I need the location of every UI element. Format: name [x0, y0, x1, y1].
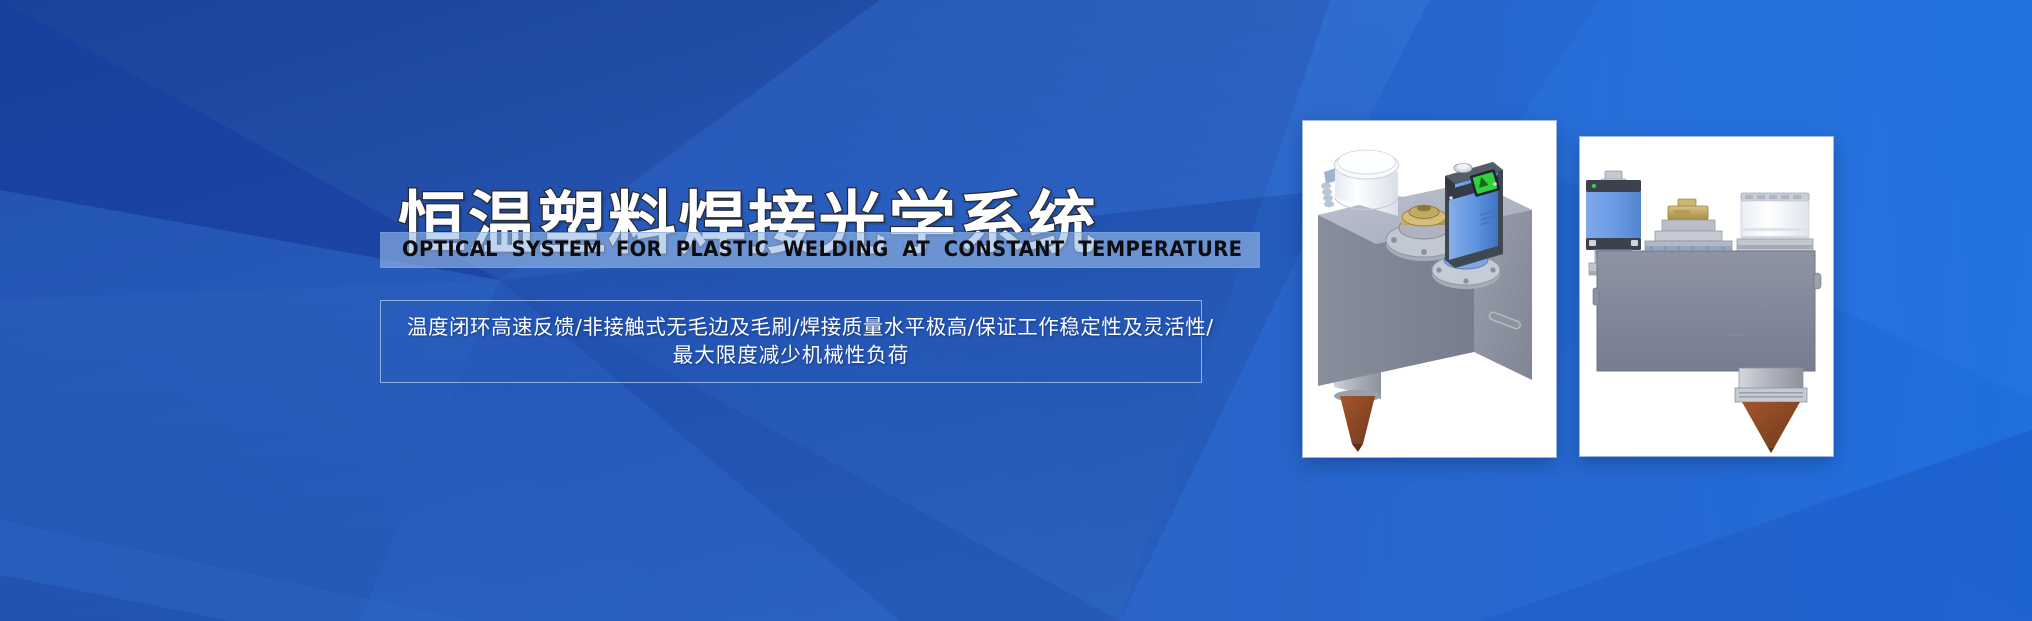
product-image-isometric[interactable]: laser-welding-head-isometric-view	[1303, 121, 1556, 457]
title-wrapper: 恒温塑料焊接光学系统 OPTICAL SYSTEM FOR PLASTIC WE…	[380, 190, 1260, 282]
product-image-front-canvas: laser-welding-head-front-view	[1583, 140, 1830, 453]
page-title-english: OPTICAL SYSTEM FOR PLASTIC WELDING AT CO…	[402, 234, 1242, 264]
promotional-banner: 恒温塑料焊接光学系统 OPTICAL SYSTEM FOR PLASTIC WE…	[0, 0, 2032, 621]
product-image-isometric-label: laser-welding-head-isometric-view	[1306, 454, 1307, 455]
white-cylinder	[1737, 193, 1813, 251]
product-image-isometric-canvas: laser-welding-head-isometric-view	[1306, 124, 1553, 454]
product-image-front-label: laser-welding-head-front-view	[1583, 453, 1584, 454]
enclosure	[1593, 251, 1821, 371]
headline-block: 恒温塑料焊接光学系统 OPTICAL SYSTEM FOR PLASTIC WE…	[380, 190, 1260, 390]
subtitle-line-2: 最大限度减少机械性负荷	[407, 341, 1175, 369]
subtitle-box: 温度闭环高速反馈/非接触式无毛边及毛刷/焊接质量水平极高/保证工作稳定性及灵活性…	[380, 300, 1202, 383]
product-image-front[interactable]: laser-welding-head-front-view	[1580, 137, 1833, 456]
subtitle-line-1: 温度闭环高速反馈/非接触式无毛边及毛刷/焊接质量水平极高/保证工作稳定性及灵活性…	[407, 313, 1175, 341]
